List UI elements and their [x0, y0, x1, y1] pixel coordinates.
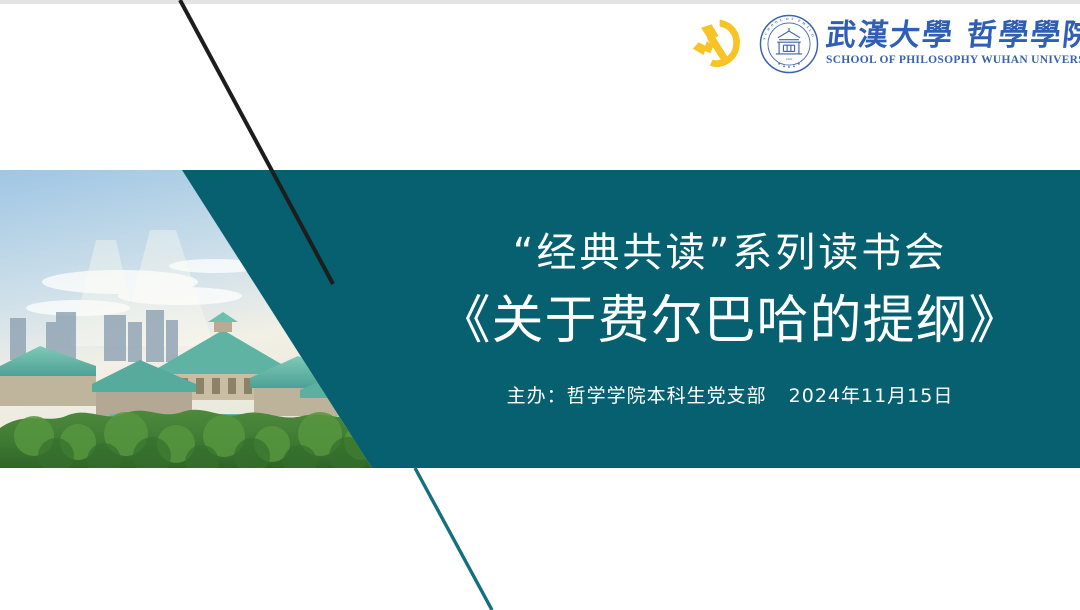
header-logo-lockup: S C H O O L O F P H I L O	[686, 8, 1080, 80]
cpc-emblem-icon	[686, 15, 744, 73]
wordmark-chinese: 武漢大學 哲學學院	[824, 20, 1080, 52]
university-seal-icon: S C H O O L O F P H I L O	[758, 13, 820, 75]
poster-canvas: S C H O O L O F P H I L O	[0, 0, 1080, 610]
organizer-label: 主办：	[507, 385, 567, 407]
diagonal-line-bottom	[415, 468, 492, 610]
event-text-block: “经典共读”系列读书会 《关于费尔巴哈的提纲》 主办：哲学学院本科生党支部202…	[400, 170, 1060, 468]
event-banner: “经典共读”系列读书会 《关于费尔巴哈的提纲》 主办：哲学学院本科生党支部202…	[0, 170, 1080, 468]
top-divider-rule	[0, 0, 1080, 4]
wordmark-english: SCHOOL OF PHILOSOPHY WUHAN UNIVERSITY	[826, 54, 1080, 68]
event-meta-line: 主办：哲学学院本科生党支部2024年11月15日	[507, 384, 954, 409]
event-main-title: 《关于费尔巴哈的提纲》	[438, 289, 1021, 354]
event-date: 2024年11月15日	[789, 385, 954, 407]
svg-text:1922: 1922	[786, 57, 793, 61]
event-series-title: “经典共读”系列读书会	[513, 229, 947, 277]
organizer-name: 哲学学院本科生党支部	[567, 385, 767, 407]
wordmark-block: 武漢大學 哲學學院 SCHOOL OF PHILOSOPHY WUHAN UNI…	[826, 20, 1080, 67]
campus-photo	[0, 170, 380, 468]
